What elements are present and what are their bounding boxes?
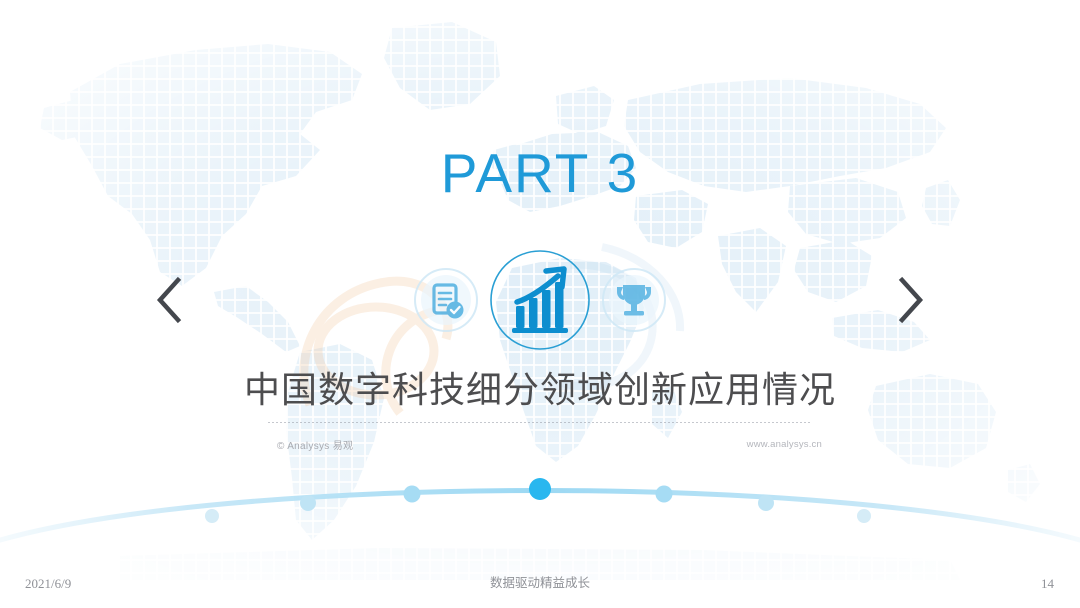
icon-cluster (410, 244, 670, 356)
presentation-slide: PART 3 (0, 0, 1080, 608)
progress-dot (857, 509, 871, 523)
progress-dots (205, 478, 871, 523)
copyright-text: © Analysys 易观 (277, 437, 353, 452)
progress-dot (656, 486, 673, 503)
progress-dot (404, 486, 421, 503)
website-url[interactable]: www.analysys.cn (747, 439, 822, 450)
footer-tagline: 数据驱动精益成长 (0, 572, 1080, 591)
next-slide-arrow[interactable] (888, 272, 932, 328)
bar-chart-growth-icon (484, 244, 596, 356)
progress-arc-svg (0, 455, 1080, 545)
progress-dot (758, 495, 774, 511)
document-check-icon (410, 264, 482, 336)
previous-slide-arrow[interactable] (148, 272, 192, 328)
section-label: PART 3 (0, 146, 1080, 201)
trophy-icon (598, 264, 670, 336)
progress-dot (205, 509, 219, 523)
page-number: 14 (1041, 576, 1054, 592)
progress-arc (0, 455, 1080, 545)
title-divider (268, 422, 812, 423)
progress-dot (300, 495, 316, 511)
progress-dot-active (529, 478, 551, 500)
page-title: 中国数字科技细分领域创新应用情况 (0, 369, 1080, 411)
